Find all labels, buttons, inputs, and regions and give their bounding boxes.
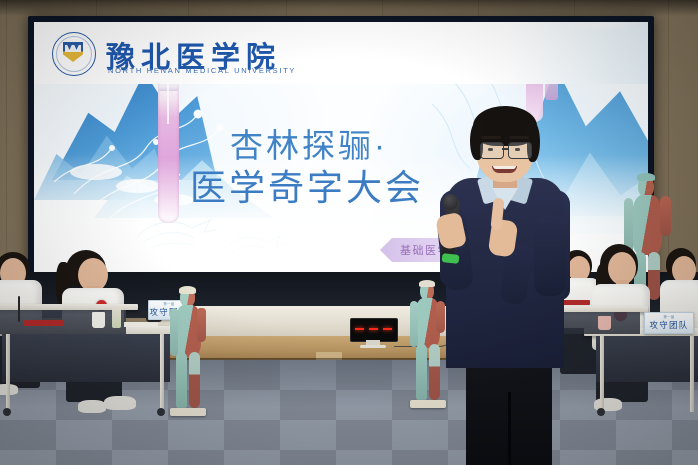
ceiling-shadow bbox=[0, 0, 698, 16]
red-folder bbox=[560, 300, 590, 305]
screenshot-root: 杏林探骊· 医学奇字大会 基础医学院 豫北医学院 NORTH HENAN MED… bbox=[0, 0, 698, 465]
university-name-en: NORTH HENAN MEDICAL UNIVERSITY bbox=[108, 66, 296, 75]
timer-digits bbox=[350, 318, 396, 340]
red-folder bbox=[24, 320, 64, 326]
nameplate-title: 攻守团队 bbox=[649, 320, 688, 331]
glasses-icon bbox=[508, 142, 532, 159]
glasses-icon bbox=[480, 142, 504, 159]
test-tube-graphic bbox=[158, 88, 179, 223]
university-logo-bar: 豫北医学院 NORTH HENAN MEDICAL UNIVERSITY bbox=[34, 22, 648, 84]
microphone-stand bbox=[18, 296, 20, 322]
water-bottle bbox=[112, 308, 121, 328]
microphone-green-band bbox=[442, 253, 460, 264]
paper-cup bbox=[92, 312, 105, 328]
team-nameplate: 第一届 攻守团队 bbox=[644, 312, 694, 334]
paper-cup bbox=[598, 316, 611, 330]
paper-sheet bbox=[124, 322, 158, 327]
